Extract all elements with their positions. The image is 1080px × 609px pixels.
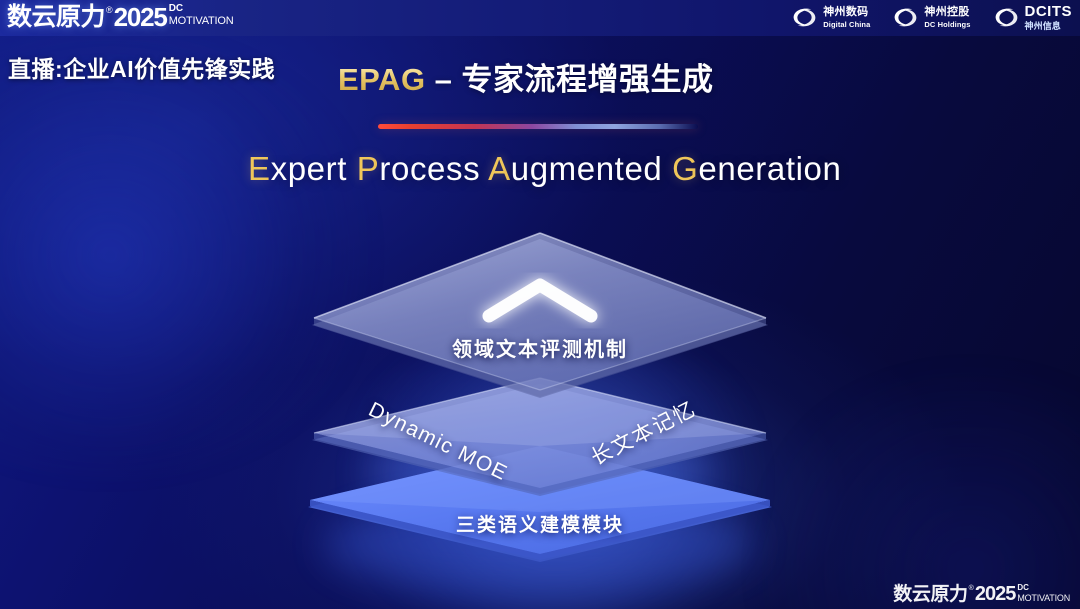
- layer-bottom-label: 三类语义建模模块: [0, 510, 1080, 537]
- layer-middle[interactable]: [312, 378, 768, 496]
- background-glow-left: [0, 40, 390, 470]
- partner-text-digital-china: 神州数码 Digital China: [823, 7, 870, 28]
- partner-logos: 神州数码 Digital China 神州控股 DC Holdings DCIT…: [791, 4, 1072, 31]
- partner-logo-dc-holdings: 神州控股 DC Holdings: [892, 5, 970, 30]
- partner-logo-dcits: DCITS 神州信息: [993, 4, 1073, 31]
- word-expert-rest: xpert: [271, 150, 347, 187]
- page-title: EPAG – 专家流程增强生成: [338, 54, 714, 99]
- watermark-dc-motivation: DC MOTIVATION: [1017, 584, 1070, 603]
- swirl-logo-icon: [993, 5, 1020, 30]
- layer-top[interactable]: [312, 233, 768, 398]
- brand-dc-text: DC: [169, 4, 234, 14]
- partner-name-en: 神州信息: [1025, 22, 1073, 31]
- acronym-letter-a: A: [488, 150, 511, 187]
- watermark-registered-icon: ®: [969, 584, 974, 593]
- acronym-letter-g: G: [672, 150, 698, 187]
- partner-name-cn: DCITS: [1025, 4, 1073, 19]
- layer-top-surface: [314, 233, 766, 390]
- acronym-letter-p: P: [357, 150, 380, 187]
- swirl-logo-icon: [791, 5, 818, 30]
- swirl-logo-icon: [892, 5, 919, 30]
- word-process-rest: rocess: [379, 150, 480, 187]
- gradient-divider: [378, 124, 698, 129]
- partner-name-en: Digital China: [823, 21, 870, 29]
- partner-name-en: DC Holdings: [924, 21, 970, 29]
- acronym-letter-e: E: [248, 150, 271, 187]
- background-glow-center: [340, 330, 770, 609]
- watermark-name-cn: 数云原力: [893, 584, 967, 605]
- brand-lockup: 数云原力 ® 2025 DC MOTIVATION: [7, 3, 234, 31]
- layer-bottom-surface: [310, 446, 770, 554]
- watermark-motivation-text: MOTIVATION: [1017, 594, 1070, 603]
- watermark-year: 2025: [975, 584, 1016, 605]
- layer-middle-label-left: Dynamic MOE: [364, 398, 511, 486]
- slide-canvas: 数云原力 ® 2025 DC MOTIVATION 直播:企业AI价值先锋实践 …: [0, 0, 1080, 609]
- registered-mark-icon: ®: [106, 4, 113, 16]
- watermark-brand: 数云原力 ® 2025 DC MOTIVATION: [893, 584, 1070, 605]
- brand-name-cn: 数云原力: [7, 3, 105, 31]
- layer-middle-surface: [314, 378, 766, 488]
- watermark-dc-text: DC: [1017, 584, 1070, 592]
- partner-name-cn: 神州数码: [823, 7, 870, 18]
- brand-dc-motivation: DC MOTIVATION: [169, 4, 234, 27]
- partner-logo-digital-china: 神州数码 Digital China: [791, 5, 870, 30]
- word-generation-rest: eneration: [698, 150, 841, 187]
- partner-text-dc-holdings: 神州控股 DC Holdings: [924, 7, 970, 28]
- layer-top-label: 领域文本评测机制: [0, 333, 1080, 362]
- word-augmented-rest: ugmented: [511, 150, 663, 187]
- background-glow-corner: [740, 379, 1080, 609]
- partner-text-dcits: DCITS 神州信息: [1025, 4, 1073, 31]
- brand-motivation-text: MOTIVATION: [169, 16, 234, 27]
- live-broadcast-title: 直播:企业AI价值先锋实践: [8, 50, 275, 84]
- english-expansion: Expert Process Augmented Generation: [248, 150, 841, 188]
- brand-year: 2025: [114, 3, 167, 31]
- chevron-up-icon: [489, 285, 591, 316]
- title-subtitle-cn: – 专家流程增强生成: [426, 62, 714, 97]
- layer-middle-label-right: 长文本记忆: [585, 393, 701, 472]
- layer-bottom[interactable]: [308, 446, 772, 562]
- partner-name-cn: 神州控股: [924, 7, 970, 18]
- title-acronym: EPAG: [338, 62, 426, 97]
